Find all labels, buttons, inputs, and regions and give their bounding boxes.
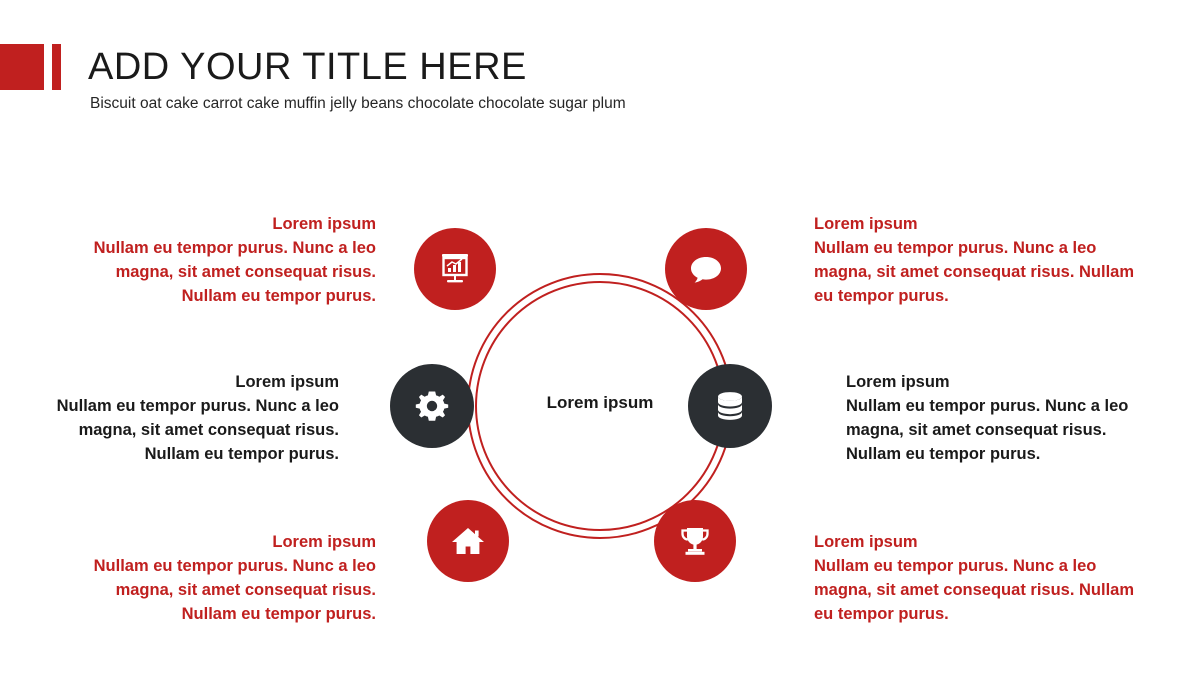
text-block-body: Nullam eu tempor purus. Nunc a leo magna… [60,554,376,626]
text-block-heading: Lorem ipsum [814,212,1134,236]
circular-diagram: Lorem ipsum [390,228,810,588]
node-chat[interactable] [665,228,747,310]
text-block-bottom-left: Lorem ipsum Nullam eu tempor purus. Nunc… [60,530,376,626]
page-subtitle: Biscuit oat cake carrot cake muffin jell… [90,94,626,114]
node-presentation[interactable] [414,228,496,310]
text-block-heading: Lorem ipsum [60,530,376,554]
text-block-heading: Lorem ipsum [40,370,339,394]
text-block-heading: Lorem ipsum [846,370,1131,394]
text-block-top-right: Lorem ipsum Nullam eu tempor purus. Nunc… [814,212,1134,308]
text-block-body: Nullam eu tempor purus. Nunc a leo magna… [846,394,1131,466]
text-block-body: Nullam eu tempor purus. Nunc a leo magna… [814,236,1134,308]
node-home[interactable] [427,500,509,582]
trophy-icon [675,521,715,561]
database-icon [710,386,750,426]
node-trophy[interactable] [654,500,736,582]
node-settings[interactable] [390,364,474,448]
text-block-heading: Lorem ipsum [60,212,376,236]
title-accent-stripe [52,44,61,90]
text-block-body: Nullam eu tempor purus. Nunc a leo magna… [40,394,339,466]
text-block-body: Nullam eu tempor purus. Nunc a leo magna… [814,554,1134,626]
text-block-body: Nullam eu tempor purus. Nunc a leo magna… [60,236,376,308]
text-block-heading: Lorem ipsum [814,530,1134,554]
text-block-bottom-right: Lorem ipsum Nullam eu tempor purus. Nunc… [814,530,1134,626]
text-block-middle-right: Lorem ipsum Nullam eu tempor purus. Nunc… [846,370,1131,466]
home-icon [448,521,488,561]
node-database[interactable] [688,364,772,448]
title-accent-block [0,44,44,90]
diagram-center-label: Lorem ipsum [500,393,700,413]
speech-bubble-icon [686,249,726,289]
text-block-middle-left: Lorem ipsum Nullam eu tempor purus. Nunc… [40,370,339,466]
text-block-top-left: Lorem ipsum Nullam eu tempor purus. Nunc… [60,212,376,308]
gear-icon [412,386,452,426]
presentation-chart-icon [435,249,475,289]
title-accent-mark [0,44,64,90]
page-title: ADD YOUR TITLE HERE [88,44,527,90]
